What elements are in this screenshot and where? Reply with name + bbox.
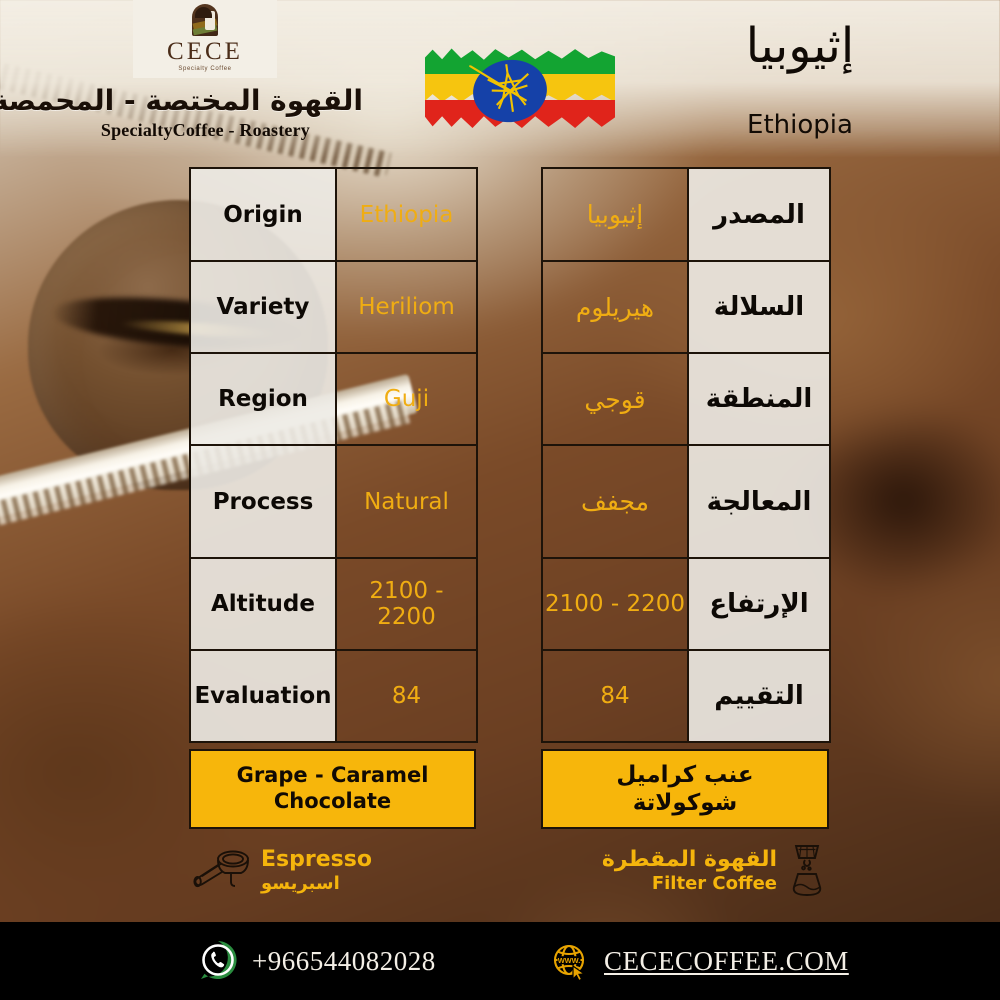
spec-label: التقييم <box>688 650 830 742</box>
phone-number[interactable]: +966544082028 <box>252 946 436 977</box>
spec-value: مجفف <box>542 445 688 558</box>
coffee-arch-emblem-icon <box>192 4 218 36</box>
table-row: المنطقة قوجي <box>542 353 830 445</box>
spec-label: Evaluation <box>190 650 336 742</box>
table-row: التقييم 84 <box>542 650 830 742</box>
footer-bar: +966544082028 WWW. CECECOFFEE.COM <box>0 922 1000 1000</box>
table-row: Variety Heriliom <box>190 261 477 353</box>
table-row: Evaluation 84 <box>190 650 477 742</box>
flavor-line-1: عنب كراميل <box>616 762 753 788</box>
whatsapp-icon[interactable] <box>196 939 240 983</box>
brand-logo: CECE Specialty Coffee <box>133 0 277 78</box>
spec-label: السلالة <box>688 261 830 353</box>
ethiopia-star-icon <box>469 55 551 127</box>
website-url[interactable]: CECECOFFEE.COM <box>604 946 849 977</box>
spec-label: المعالجة <box>688 445 830 558</box>
logo-tagline: Specialty Coffee <box>178 66 231 72</box>
portafilter-icon <box>189 845 253 897</box>
spec-value: إثيوبيا <box>542 168 688 261</box>
spec-value: Heriliom <box>336 261 477 353</box>
logo-wordmark: CECE <box>167 39 243 64</box>
table-row: المصدر إثيوبيا <box>542 168 830 261</box>
table-row: الإرتفاع 2100 - 2200 <box>542 558 830 650</box>
www-globe-cursor-icon[interactable]: WWW. <box>548 939 592 983</box>
pourover-dripper-icon <box>785 843 829 899</box>
contact-website[interactable]: WWW. CECECOFFEE.COM <box>548 939 849 983</box>
page-title-arabic: إثيوبيا <box>640 18 960 75</box>
espresso-label-arabic: اسبريسو <box>261 873 372 895</box>
brew-method-filter: القهوة المقطرة Filter Coffee <box>602 843 829 899</box>
spec-value: Guji <box>336 353 477 445</box>
spec-label: Process <box>190 445 336 558</box>
table-row: Region Guji <box>190 353 477 445</box>
flavor-notes-arabic: عنب كراميل شوكولاتة <box>541 749 829 829</box>
flavor-line-1: Grape - Caramel <box>237 763 429 787</box>
spec-value: 84 <box>542 650 688 742</box>
slogan-arabic: القهوة المختصة - المحمصة <box>0 84 363 117</box>
filter-label-english: Filter Coffee <box>602 873 777 895</box>
spec-value: 84 <box>336 650 477 742</box>
brew-method-espresso: Espresso اسبريسو <box>189 845 372 897</box>
spec-label: Variety <box>190 261 336 353</box>
spec-label: المصدر <box>688 168 830 261</box>
table-row: Altitude 2100 - 2200 <box>190 558 477 650</box>
spec-label: Region <box>190 353 336 445</box>
page-title-english: Ethiopia <box>640 110 960 140</box>
spec-value: هيريلوم <box>542 261 688 353</box>
spec-label: Altitude <box>190 558 336 650</box>
filter-label-arabic: القهوة المقطرة <box>602 847 777 873</box>
spec-value: 2100 - 2200 <box>542 558 688 650</box>
svg-text:WWW.: WWW. <box>558 956 581 965</box>
spec-label: Origin <box>190 168 336 261</box>
espresso-label-english: Espresso <box>261 847 372 873</box>
ethiopia-flag-brushstroke-icon <box>425 48 615 130</box>
flavor-line-2: شوكولاتة <box>633 790 738 816</box>
table-row: Origin Ethiopia <box>190 168 477 261</box>
spec-table-english: Origin Ethiopia Variety Heriliom Region … <box>189 167 478 743</box>
spec-label: الإرتفاع <box>688 558 830 650</box>
spec-value: قوجي <box>542 353 688 445</box>
spec-label: المنطقة <box>688 353 830 445</box>
flavor-line-2: Chocolate <box>274 789 391 813</box>
spec-table-arabic: المصدر إثيوبيا السلالة هيريلوم المنطقة ق… <box>541 167 831 743</box>
table-row: المعالجة مجفف <box>542 445 830 558</box>
contact-phone[interactable]: +966544082028 <box>196 939 436 983</box>
spec-value: 2100 - 2200 <box>336 558 477 650</box>
infographic-canvas: CECE Specialty Coffee القهوة المختصة - ا… <box>0 0 1000 1000</box>
spec-value: Natural <box>336 445 477 558</box>
slogan-english: SpecialtyCoffee - Roastery <box>101 120 310 141</box>
brew-methods-row: Espresso اسبريسو <box>189 841 829 907</box>
spec-value: Ethiopia <box>336 168 477 261</box>
flavor-notes-english: Grape - Caramel Chocolate <box>189 749 476 829</box>
table-row: السلالة هيريلوم <box>542 261 830 353</box>
table-row: Process Natural <box>190 445 477 558</box>
